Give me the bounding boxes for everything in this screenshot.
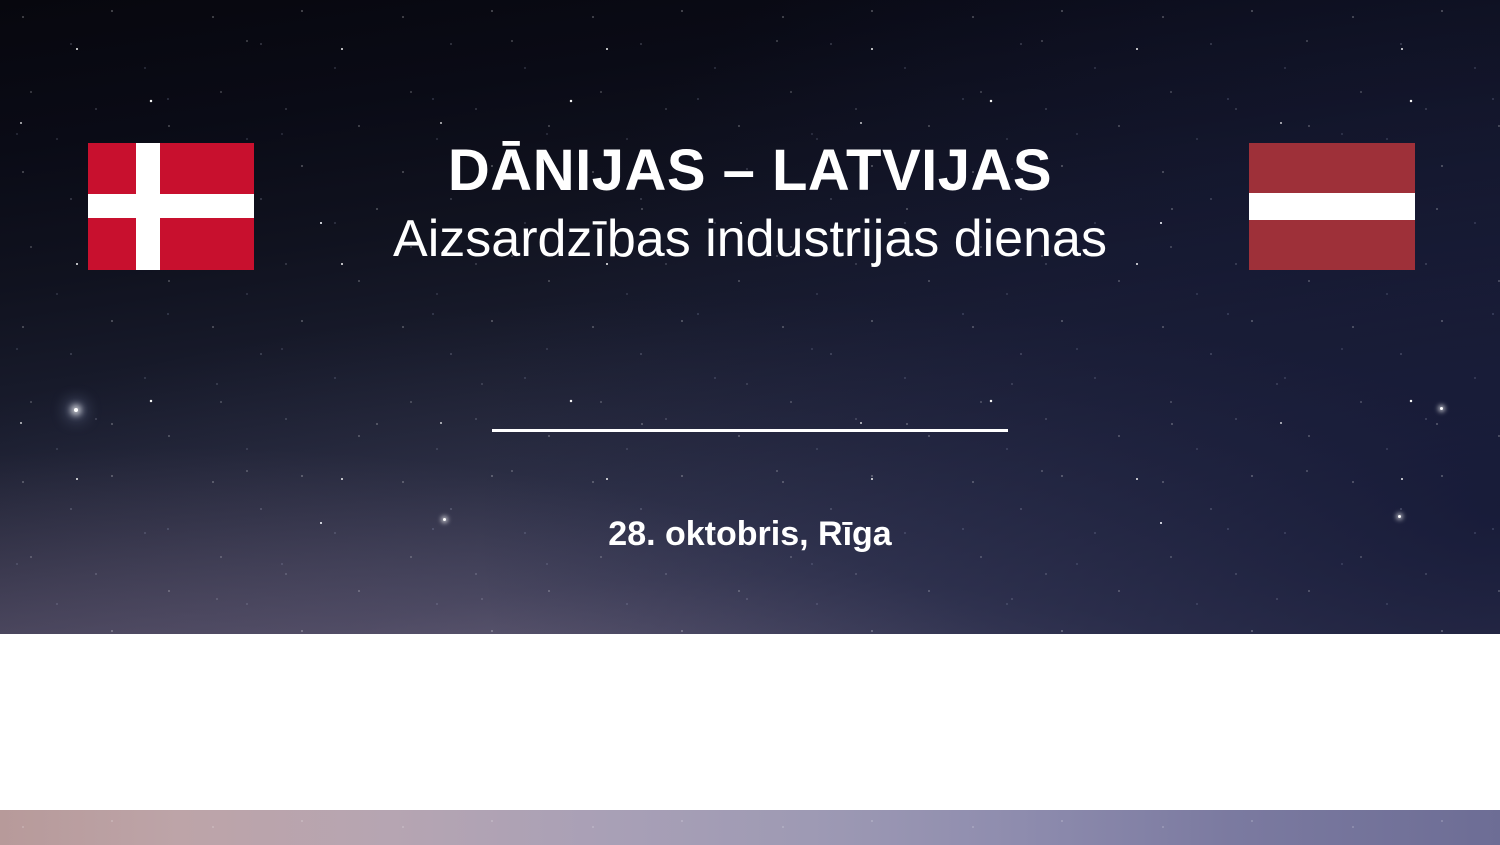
bottom-sky-strip	[0, 810, 1500, 845]
title-block: DĀNIJAS – LATVIJAS Aizsardzības industri…	[0, 140, 1500, 270]
page-subtitle: Aizsardzības industrijas dienas	[0, 209, 1500, 270]
title-divider	[492, 429, 1008, 432]
event-date: 28. oktobris, Rīga	[0, 515, 1500, 554]
sponsor-logo-bar: DANISH MINISTRY OF DEFENCE ACQUISITION A…	[0, 634, 1500, 810]
presentation-slide: DĀNIJAS – LATVIJAS Aizsardzības industri…	[0, 0, 1500, 845]
page-title: DĀNIJAS – LATVIJAS	[0, 140, 1500, 203]
bottom-sky-gradient	[0, 810, 1500, 845]
bright-star	[74, 408, 78, 412]
bright-star	[1440, 407, 1443, 410]
